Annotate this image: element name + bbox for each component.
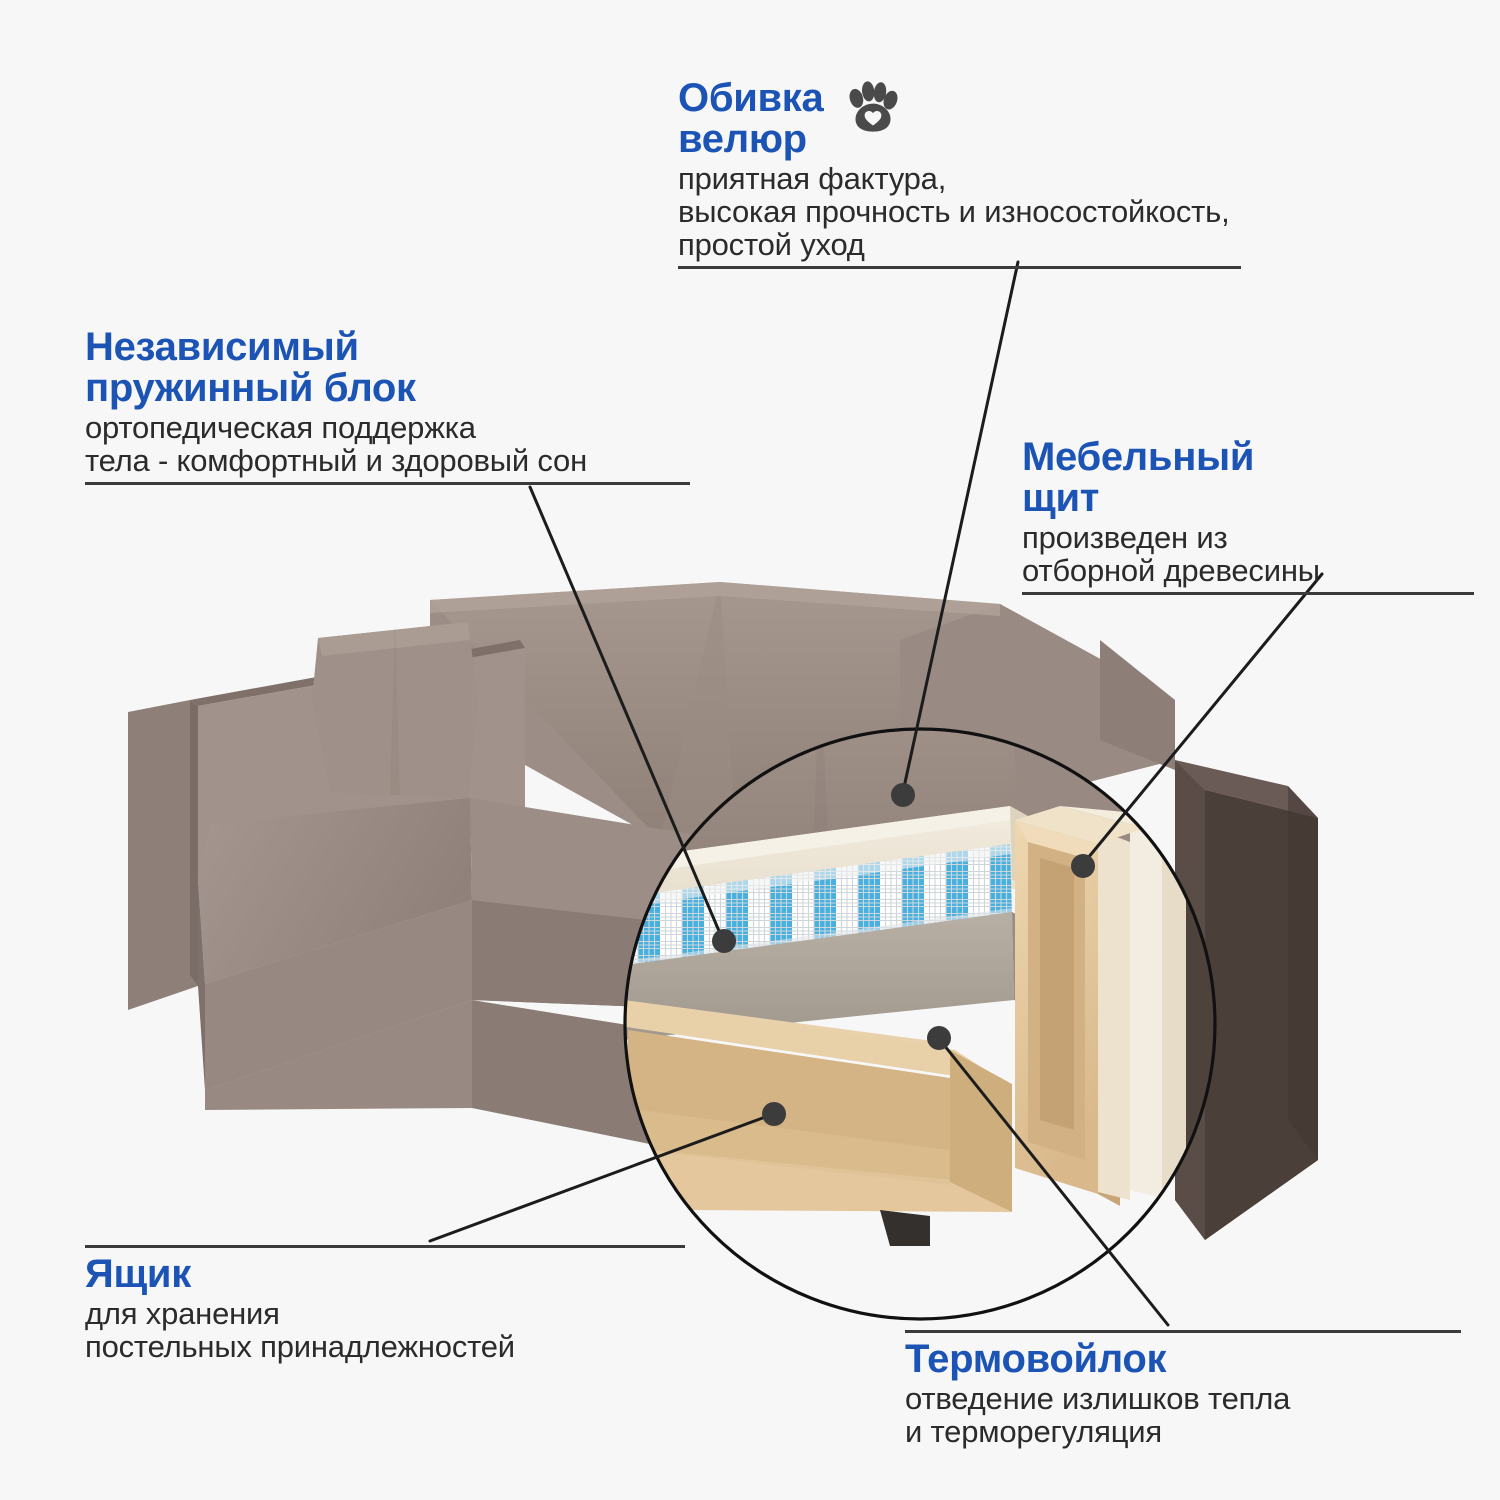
dot-springs	[712, 929, 736, 953]
callout-board: Мебельный щит произведен из отборной дре…	[1022, 437, 1482, 595]
zoom-circle-outline	[625, 729, 1215, 1319]
callout-springs-title: Независимый пружинный блок	[85, 327, 795, 409]
callout-board-title: Мебельный щит	[1022, 437, 1482, 519]
callout-felt-desc: отведение излишков тепла и терморегуляци…	[905, 1382, 1475, 1448]
cutaway-detail	[600, 640, 1240, 1340]
paw-print-icon	[845, 80, 901, 136]
callout-felt-title: Термовойлок	[905, 1339, 1475, 1380]
sofa-body	[128, 582, 1318, 1250]
callout-drawer-title: Ящик	[85, 1254, 705, 1295]
callout-upholstery-rule	[678, 266, 1241, 269]
dot-board	[1071, 854, 1095, 878]
dot-drawer	[762, 1102, 786, 1126]
dot-upholstery	[891, 783, 915, 807]
callout-drawer-rule	[85, 1245, 685, 1248]
callout-board-rule	[1022, 592, 1474, 595]
callout-drawer-desc: для хранения постельных принадлежностей	[85, 1297, 705, 1363]
callout-board-desc: произведен из отборной древесины	[1022, 521, 1482, 587]
dot-felt	[927, 1026, 951, 1050]
callout-upholstery-title: Обивка велюр	[678, 78, 823, 160]
callout-upholstery-desc: приятная фактура, высокая прочность и из…	[678, 162, 1468, 261]
callout-felt: Термовойлок отведение излишков тепла и т…	[905, 1330, 1475, 1448]
leader-upholstery	[903, 262, 1018, 792]
callout-upholstery: Обивка велюр приятная фактура, высокая п…	[678, 78, 1468, 269]
callout-springs-desc: ортопедическая поддержка тела - комфортн…	[85, 411, 795, 477]
leader-drawer	[430, 1113, 776, 1241]
callout-felt-rule	[905, 1330, 1461, 1333]
infographic-canvas: Обивка велюр приятная фактура, высокая п…	[0, 0, 1500, 1500]
leader-dots	[712, 783, 1095, 1126]
callout-drawer: Ящик для хранения постельных принадлежно…	[85, 1245, 705, 1363]
leader-board	[1083, 574, 1322, 864]
callout-springs: Независимый пружинный блок ортопедическа…	[85, 327, 795, 485]
leader-springs	[530, 487, 722, 938]
callout-springs-rule	[85, 482, 690, 485]
leader-felt	[940, 1040, 1168, 1325]
